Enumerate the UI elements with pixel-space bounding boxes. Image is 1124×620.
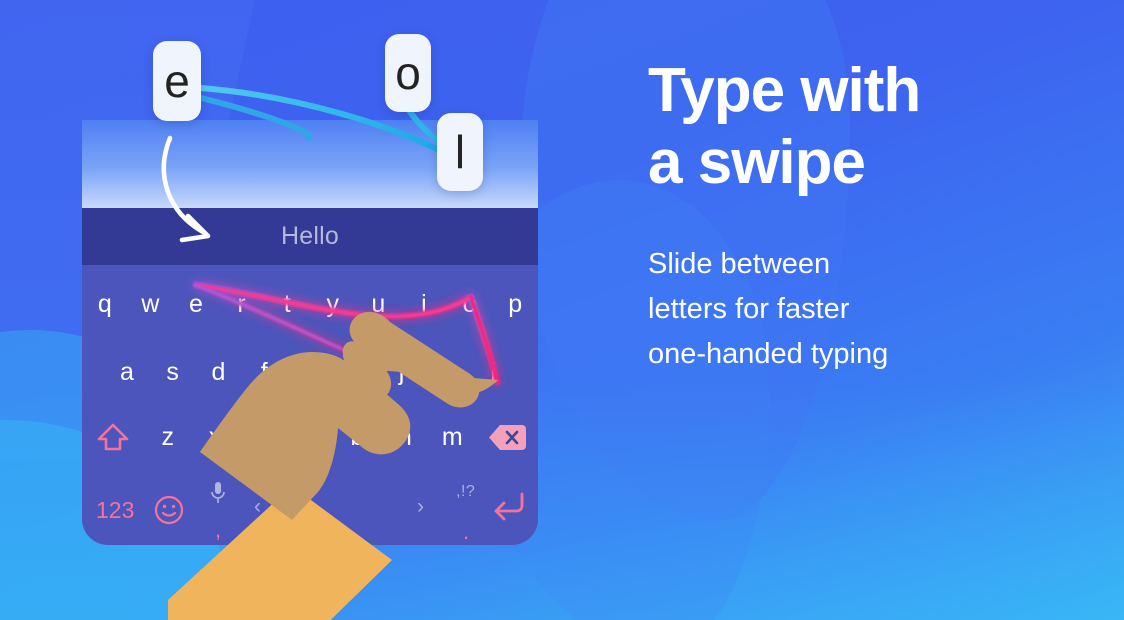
floating-tile-l[interactable]: l [437,113,483,191]
headline-line-2: a swipe [648,132,1078,194]
key-m[interactable]: m [429,420,476,454]
key-y[interactable]: y [310,287,356,321]
prev-arrow-key[interactable]: ‹ [254,495,261,519]
punctuation-key[interactable]: ,!? [456,483,475,501]
shift-arrow-icon[interactable] [82,420,144,454]
key-j[interactable]: j [379,355,425,389]
key-t[interactable]: t [264,287,310,321]
backspace-icon[interactable] [476,420,538,454]
key-u[interactable]: u [356,287,402,321]
key-h[interactable]: h [333,355,379,389]
key-o[interactable]: o [447,287,493,321]
floating-tile-e[interactable]: e [153,41,201,121]
key-x[interactable]: x [191,420,238,454]
smiley-icon[interactable] [154,495,184,525]
suggestion-bar[interactable]: Hello [82,208,538,265]
key-v[interactable]: v [286,420,333,454]
key-c[interactable]: c [239,420,286,454]
key-b[interactable]: b [334,420,381,454]
promo-subcopy: Slide between letters for faster one-han… [648,242,1078,377]
headline-line-1: Type with [648,56,920,125]
period-key[interactable]: . [463,519,469,545]
next-arrow-key[interactable]: › [417,495,424,519]
numeric-key[interactable]: 123 [96,497,134,524]
floating-tile-o[interactable]: o [385,34,431,112]
subcopy-line-2: letters for faster [648,293,849,325]
subcopy-line-1: Slide between [648,248,830,280]
suggestion-word[interactable]: Hello [281,222,339,251]
key-d[interactable]: d [196,355,242,389]
key-e[interactable]: e [173,287,219,321]
keyboard-body: q w e r t y u i o p a s d f g h j k l [82,265,538,545]
keyboard-row-1: q w e r t y u i o p [82,287,538,321]
subcopy-line-3: one-handed typing [648,338,888,370]
key-i[interactable]: i [401,287,447,321]
key-q[interactable]: q [82,287,128,321]
promo-copy: Type with a swipe Slide between letters … [648,60,1078,377]
microphone-icon[interactable] [210,481,226,507]
key-s[interactable]: s [150,355,196,389]
key-f[interactable]: f [241,355,287,389]
key-a[interactable]: a [104,355,150,389]
key-r[interactable]: r [219,287,265,321]
keyboard-function-row: 123 , ‹ › ,!? . [82,483,538,541]
key-p[interactable]: p [492,287,538,321]
enter-arrow-icon[interactable] [490,489,526,521]
key-w[interactable]: w [128,287,174,321]
keyboard-row-3: z x c v b n m [82,420,538,454]
key-l[interactable]: l [470,355,516,389]
keyboard-row-2: a s d f g h j k l [82,355,538,389]
key-n[interactable]: n [381,420,428,454]
key-g[interactable]: g [287,355,333,389]
comma-key[interactable]: , [215,517,221,543]
page-title: Type with a swipe [648,60,1078,194]
key-z[interactable]: z [144,420,191,454]
key-k[interactable]: k [424,355,470,389]
